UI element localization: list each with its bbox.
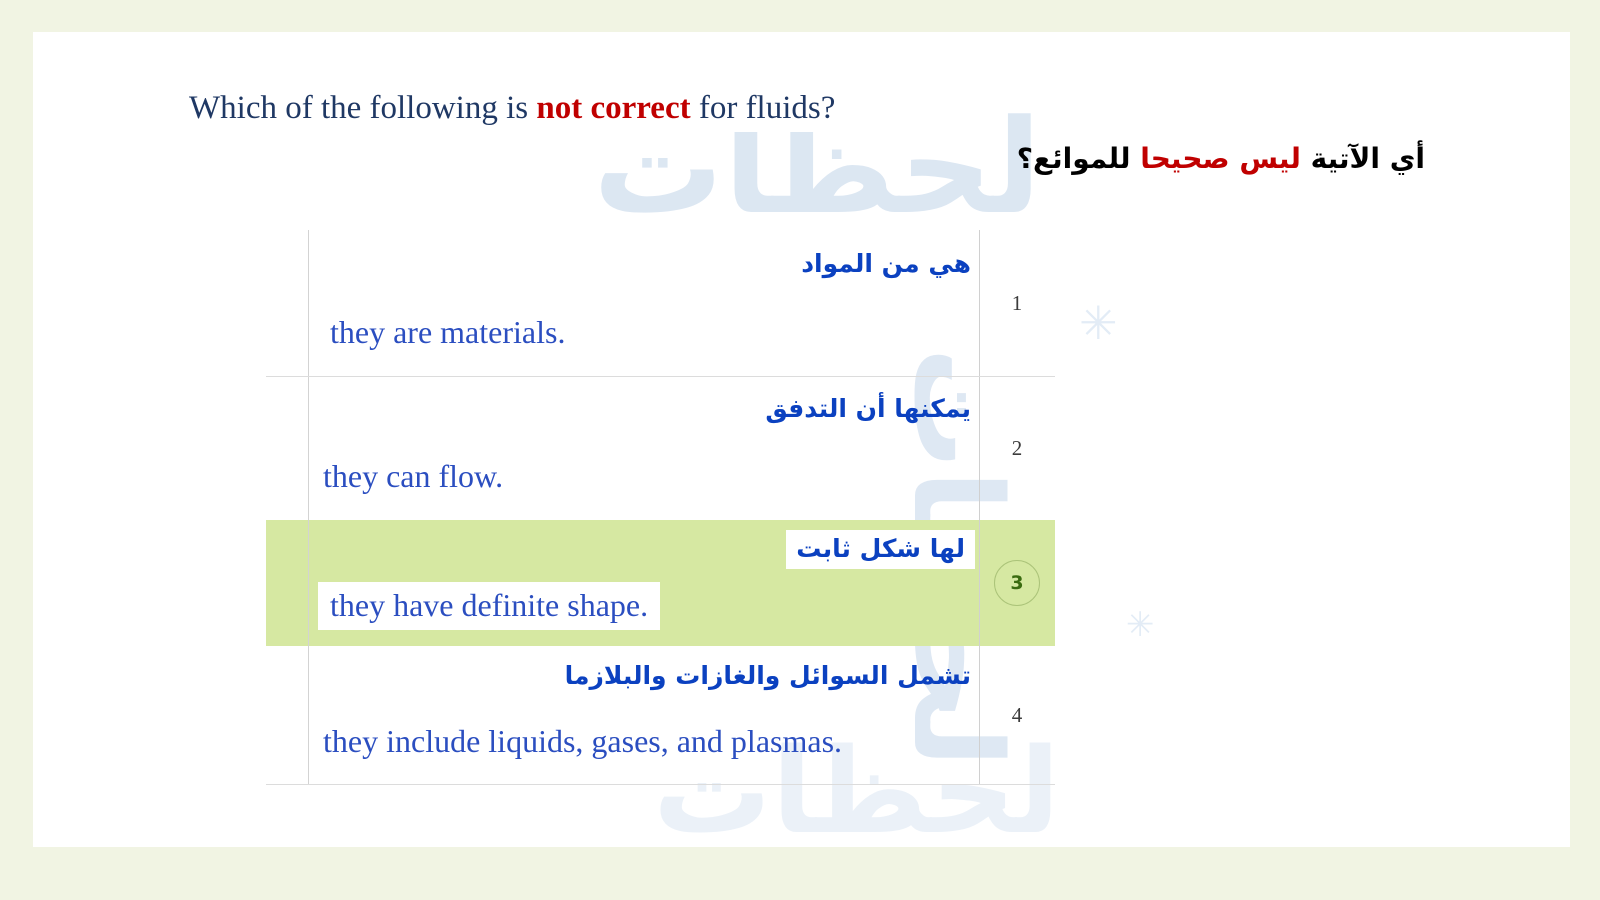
question-arabic: أي الآتية ليس صحيحا للموائع؟ <box>1017 142 1425 176</box>
slide-card: لحظات لحظات لحظات ✳ ✳ Which of the follo… <box>33 32 1570 847</box>
option-text-1: هي من المواد they are materials. <box>308 230 979 377</box>
options-table: هي من المواد they are materials. 1 يمكنه… <box>266 230 1055 785</box>
question-arabic-after: للموائع؟ <box>1017 142 1141 175</box>
option-arabic-2: يمكنها أن التدفق <box>765 393 971 424</box>
option-row-2[interactable]: يمكنها أن التدفق they can flow. 2 <box>266 377 1055 520</box>
question-arabic-emphasis: ليس صحيحا <box>1140 142 1301 175</box>
question-english-before: Which of the following is <box>189 90 536 126</box>
question-english-emphasis: not correct <box>536 90 690 126</box>
option-number-2: 2 <box>994 426 1040 472</box>
option-text-2: يمكنها أن التدفق they can flow. <box>308 377 979 520</box>
option-number-cell-4: 4 <box>979 646 1055 785</box>
option-english-1: they are materials. <box>330 313 565 351</box>
option-number-cell-1: 1 <box>979 230 1055 377</box>
question-arabic-before: أي الآتية <box>1301 142 1425 175</box>
option-number-4: 4 <box>994 693 1040 739</box>
option-text-4: تشمل السوائل والغازات والبلازما they inc… <box>308 646 979 785</box>
option-english-2: they can flow. <box>323 457 503 495</box>
option-text-3: لها شكل ثابت they have definite shape. <box>308 520 979 646</box>
option-number-cell-2: 2 <box>979 377 1055 520</box>
option-row-1[interactable]: هي من المواد they are materials. 1 <box>266 230 1055 377</box>
option-english-4: they include liquids, gases, and plasmas… <box>323 722 842 760</box>
option-number-3: 3 <box>994 560 1040 606</box>
option-english-3: they have definite shape. <box>318 582 660 630</box>
option-number-cell-3: 3 <box>979 520 1055 646</box>
option-arabic-3: لها شكل ثابت <box>786 530 975 569</box>
option-number-1: 1 <box>994 281 1040 327</box>
option-arabic-4: تشمل السوائل والغازات والبلازما <box>565 660 971 691</box>
option-arabic-1: هي من المواد <box>801 248 971 279</box>
option-row-4[interactable]: تشمل السوائل والغازات والبلازما they inc… <box>266 646 1055 785</box>
option-row-3[interactable]: لها شكل ثابت they have definite shape. 3 <box>266 520 1055 646</box>
question-english: Which of the following is not correct fo… <box>185 88 841 132</box>
question-english-after: for fluids? <box>691 90 836 126</box>
watermark-star-icon: ✳ <box>1079 300 1118 346</box>
watermark-star-icon: ✳ <box>1126 608 1155 642</box>
